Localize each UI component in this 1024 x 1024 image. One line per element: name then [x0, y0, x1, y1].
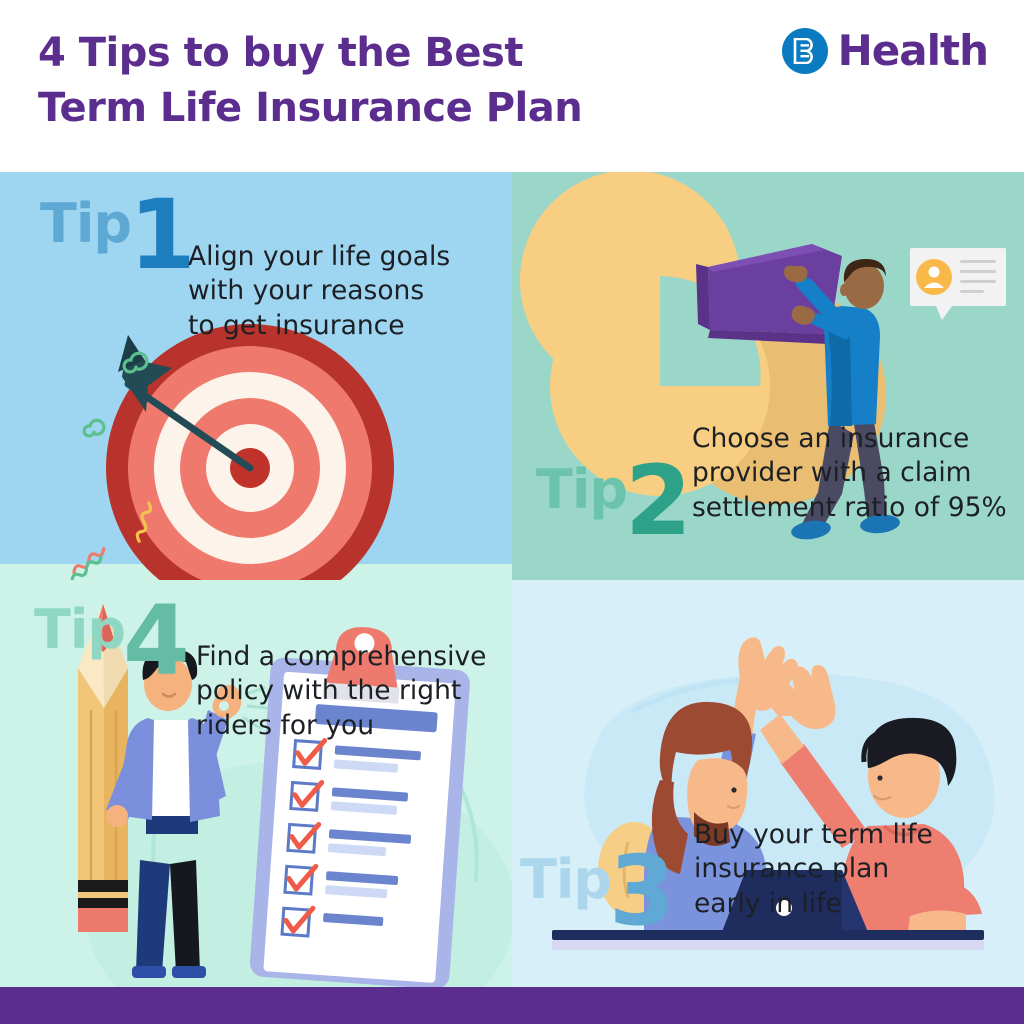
tip-3-number: 3	[609, 854, 673, 929]
brand-logo-text: Health	[838, 30, 988, 72]
tip-1-word: Tip	[40, 198, 131, 249]
page-title-line1-bold: Best	[424, 30, 523, 76]
tip-4-text: Find a comprehensive policy with the rig…	[196, 640, 496, 743]
tip-4-number: 4	[123, 604, 187, 679]
page-title: 4 Tips to buy the Best Term Life Insuran…	[38, 26, 718, 136]
tip-2-badge: Tip 2	[536, 464, 689, 539]
brand-logo: Health	[782, 28, 988, 74]
tip-1-text: Align your life goals with your reasons …	[188, 240, 488, 343]
tip-2-number: 2	[625, 464, 689, 539]
page-title-line1-plain: 4 Tips to buy the	[38, 30, 424, 76]
tip-2-text: Choose an insurance provider with a clai…	[692, 422, 1022, 525]
tip-4-badge: Tip 4	[34, 604, 187, 679]
tip-3-word: Tip	[520, 854, 611, 905]
target-rings	[106, 324, 394, 580]
tip-card-1: Tip 1 Align your life goals with your re…	[0, 172, 512, 580]
footer-bar	[0, 987, 1024, 1024]
tip-3-badge: Tip 3	[520, 854, 673, 929]
bajaj-b-icon	[782, 28, 828, 74]
bajaj-b-glyph	[793, 38, 817, 64]
profile-card	[910, 248, 1006, 320]
tip-card-4: Tip 4 Find a comprehensive policy with t…	[0, 580, 512, 987]
tip-1-badge: Tip 1	[40, 198, 193, 273]
tip-3-text: Buy your term life insurance plan early …	[694, 818, 994, 921]
tip-4-word: Tip	[34, 604, 125, 655]
tips-grid: Tip 1 Align your life goals with your re…	[0, 172, 1024, 987]
header: 4 Tips to buy the Best Term Life Insuran…	[0, 0, 1024, 172]
page-title-line2: Term Life Insurance Plan	[38, 85, 582, 131]
tip-1-number: 1	[129, 198, 193, 273]
tip-card-2: Tip 2 Choose an insurance provider with …	[512, 172, 1024, 580]
tip-card-3: Tip 3 Buy your term life insurance plan …	[512, 580, 1024, 987]
tip-2-word: Tip	[536, 464, 627, 515]
